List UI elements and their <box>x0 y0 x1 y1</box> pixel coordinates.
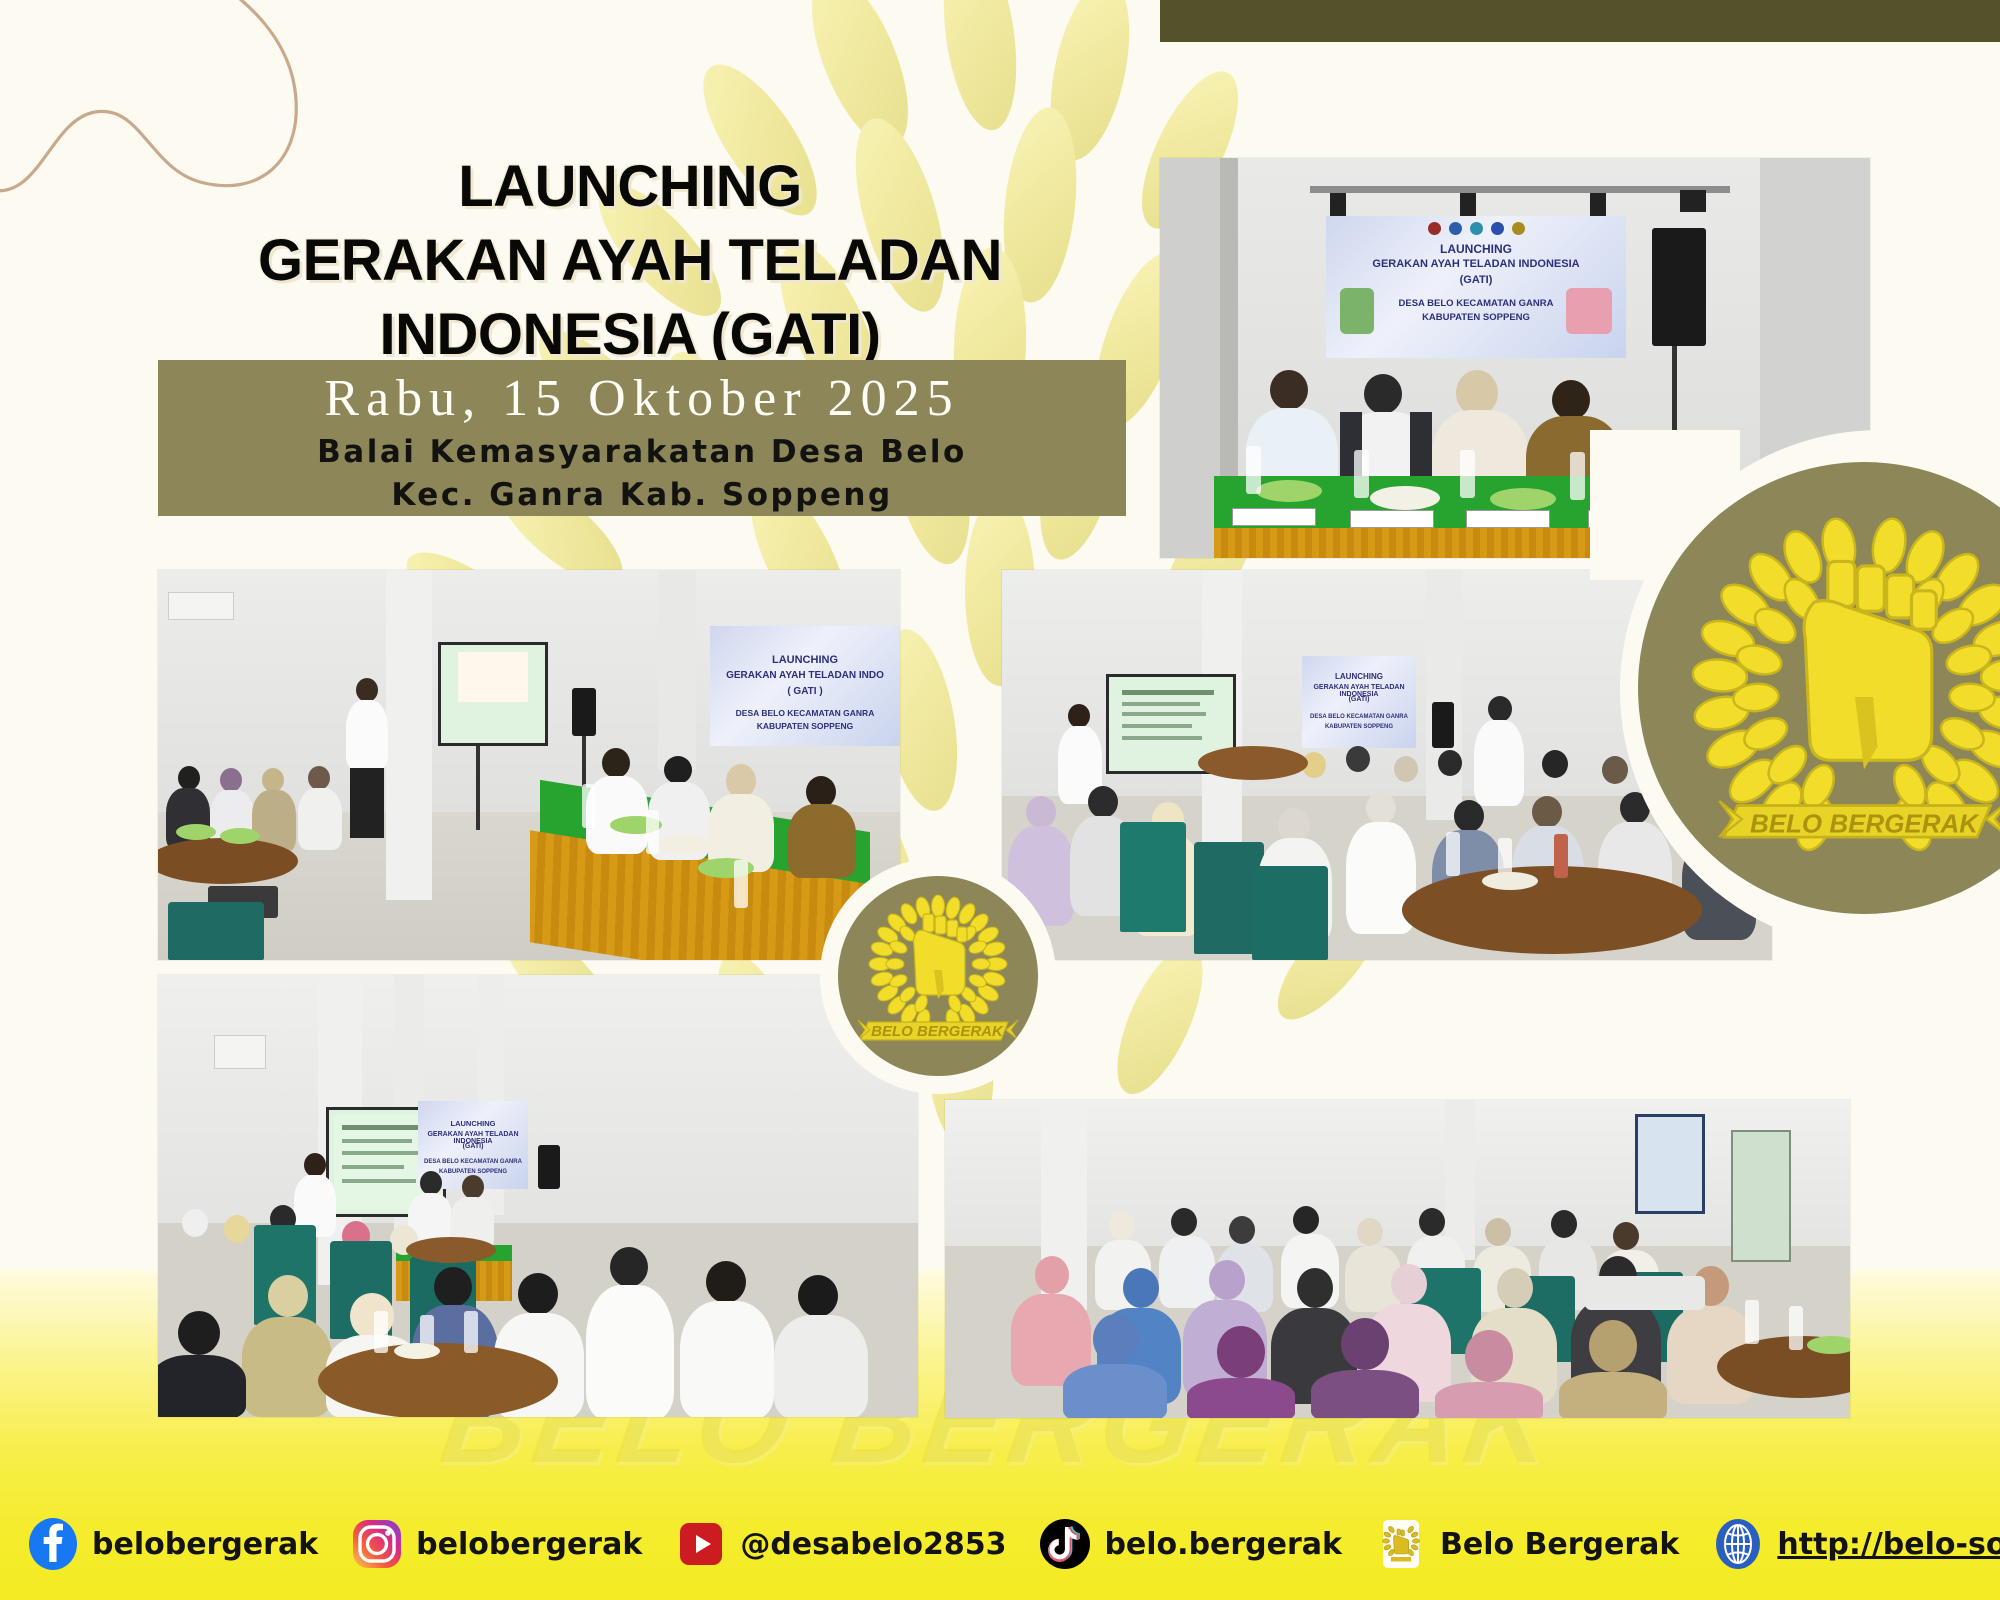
instagram-handle[interactable]: belobergerak <box>416 1527 642 1562</box>
photo-hall-wide: LAUNCHING GERAKAN AYAH TELADAN INDONESIA… <box>158 975 918 1417</box>
badge-ribbon-text-center: BELO BERGERAK <box>871 1023 1004 1040</box>
poster-canvas: BELO BERGERAK LAUNCHING GERAKAN AYAH TEL… <box>0 0 2000 1600</box>
page-title: LAUNCHING GERAKAN AYAH TELADAN INDONESIA… <box>150 150 1110 373</box>
social-belo-app[interactable]: Belo Bergerak <box>1374 1517 1679 1571</box>
social-instagram[interactable]: belobergerak <box>350 1517 642 1571</box>
website-url[interactable]: http://belo-soppeng.desa.id <box>1777 1527 2000 1562</box>
facebook-handle[interactable]: belobergerak <box>92 1527 318 1562</box>
event-info-banner: Rabu, 15 Oktober 2025 Balai Kemasyarakat… <box>158 360 1126 516</box>
tiktok-icon[interactable] <box>1038 1517 1092 1571</box>
youtube-handle[interactable]: @desabelo2853 <box>740 1527 1006 1562</box>
globe-icon[interactable] <box>1711 1517 1765 1571</box>
event-venue-line-2: Kec. Ganra Kab. Soppeng <box>158 474 1126 517</box>
belo-app-handle[interactable]: Belo Bergerak <box>1440 1527 1679 1562</box>
social-facebook[interactable]: belobergerak <box>26 1517 318 1571</box>
photo-attendees <box>945 1100 1850 1418</box>
social-youtube[interactable]: @desabelo2853 <box>674 1517 1006 1571</box>
photo-presentation-hall: LAUNCHING GERAKAN AYAH TELADAN INDO ( GA… <box>158 570 900 960</box>
social-website[interactable]: http://belo-soppeng.desa.id <box>1711 1517 2000 1571</box>
event-date: Rabu, 15 Oktober 2025 <box>158 366 1126 431</box>
youtube-icon[interactable] <box>674 1517 728 1571</box>
social-footer: belobergerak <box>0 1488 2000 1600</box>
raised-fist-icon <box>914 914 968 999</box>
badge-ribbon-text: BELO BERGERAK <box>1750 809 1980 839</box>
ribbon-banner: BELO BERGERAK <box>858 1020 1018 1040</box>
ribbon-banner: BELO BERGERAK <box>1719 801 2000 839</box>
olive-top-bar <box>1160 0 2000 42</box>
tiktok-handle[interactable]: belo.bergerak <box>1104 1527 1342 1562</box>
belo-bergerak-badge-center: BELO BERGERAK <box>838 876 1038 1076</box>
raised-fist-icon <box>1804 561 1936 769</box>
title-line-1: LAUNCHING <box>150 150 1110 224</box>
event-venue-line-1: Balai Kemasyarakatan Desa Belo <box>158 431 1126 474</box>
instagram-icon[interactable] <box>350 1517 404 1571</box>
facebook-icon[interactable] <box>26 1517 80 1571</box>
belo-logo-icon[interactable] <box>1374 1517 1428 1571</box>
title-line-2: GERAKAN AYAH TELADAN <box>150 224 1110 298</box>
social-tiktok[interactable]: belo.bergerak <box>1038 1517 1342 1571</box>
